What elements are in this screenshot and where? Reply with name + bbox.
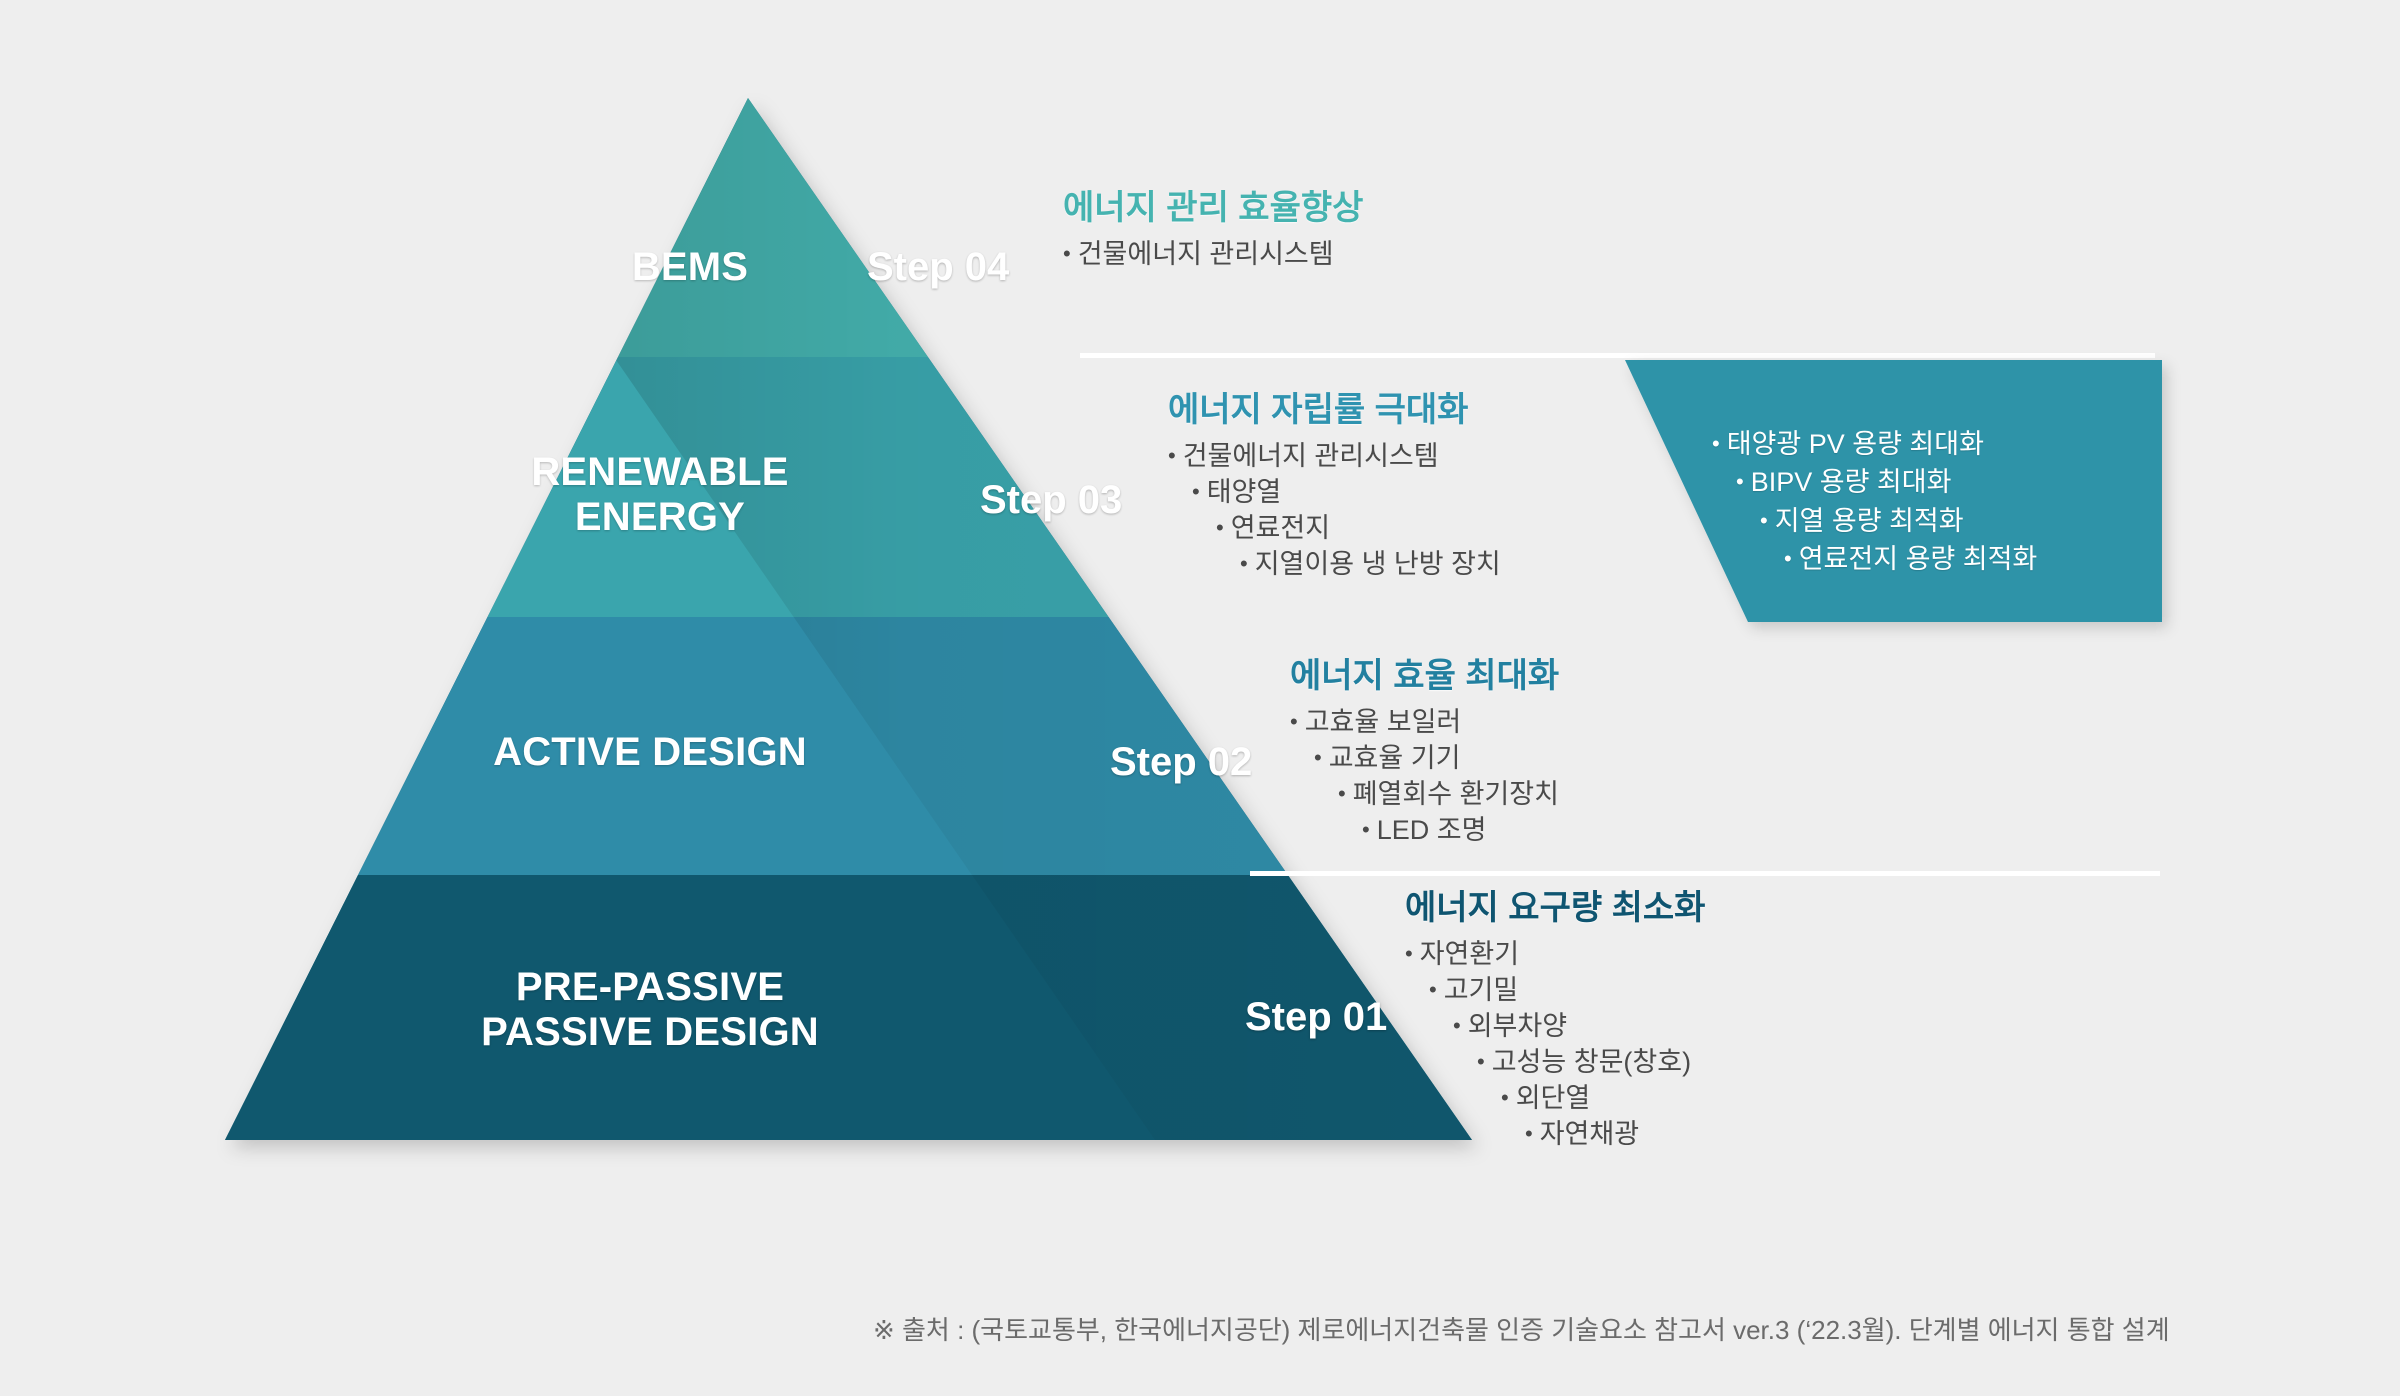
bullet-item: 태양열 [1192,475,1501,511]
step-02-bullets: 고효율 보일러 교효율 기기 폐열회수 환기장치 LED 조명 [1290,705,1559,849]
bullet-item: 자연환기 [1405,937,1705,973]
step-01-block: 에너지 요구량 최소화 자연환기 고기밀 외부차양 고성능 창문(창호) 외단열… [1405,890,1705,1153]
step-03-bullets: 건물에너지 관리시스템 태양열 연료전지 지열이용 냉 난방 장치 [1168,439,1501,583]
step-label-01: Step 01 [1245,995,1387,1040]
bullet-item: 외부차양 [1453,1009,1705,1045]
bullet-item: BIPV 용량 최대화 [1736,463,2037,501]
bullet-item: 연료전지 [1216,511,1501,547]
bullet-item: 폐열회수 환기장치 [1338,777,1559,813]
bullet-item: 고성능 창문(창호) [1477,1045,1705,1081]
divider-step03 [1080,353,2155,358]
step-label-04: Step 04 [867,245,1009,290]
bullet-item: 고기밀 [1429,973,1705,1009]
bullet-item: 자연채광 [1525,1117,1705,1153]
step-label-02: Step 02 [1110,740,1252,785]
bullet-item: 지열 용량 최적화 [1760,502,2037,540]
bullet-item: 태양광 PV 용량 최대화 [1712,425,2037,463]
step-label-03: Step 03 [980,478,1122,523]
tier-label-renewable: RENEWABLE ENERGY [490,450,830,540]
step-04-bullets: 건물에너지 관리시스템 [1063,237,1363,273]
tier-label-passive: PRE-PASSIVE PASSIVE DESIGN [430,965,870,1055]
step-02-title: 에너지 효율 최대화 [1290,658,1559,695]
divider-step01 [1250,871,2160,876]
bullet-item: 연료전지 용량 최적화 [1784,540,2037,578]
bullet-item: 지열이용 냉 난방 장치 [1240,547,1501,583]
bullet-item: 외단열 [1501,1081,1705,1117]
step-04-title: 에너지 관리 효율향상 [1063,190,1363,227]
tier-label-bems: BEMS [560,245,820,290]
bullet-item: 교효율 기기 [1314,741,1559,777]
bullet-item: 건물에너지 관리시스템 [1168,439,1501,475]
infographic-canvas: BEMS RENEWABLE ENERGY ACTIVE DESIGN PRE-… [0,0,2400,1396]
step-03-title: 에너지 자립률 극대화 [1168,392,1501,429]
step-01-title: 에너지 요구량 최소화 [1405,890,1705,927]
callout-bullets: 태양광 PV 용량 최대화 BIPV 용량 최대화 지열 용량 최적화 연료전지… [1712,425,2037,578]
step-01-bullets: 자연환기 고기밀 외부차양 고성능 창문(창호) 외단열 자연채광 [1405,937,1705,1152]
tier-label-active: ACTIVE DESIGN [440,730,860,775]
step-03-block: 에너지 자립률 극대화 건물에너지 관리시스템 태양열 연료전지 지열이용 냉 … [1168,392,1501,583]
source-note: ※ 출처 : (국토교통부, 한국에너지공단) 제로에너지건축물 인증 기술요소… [873,1310,2170,1347]
step-04-block: 에너지 관리 효율향상 건물에너지 관리시스템 [1063,190,1363,273]
bullet-item: 고효율 보일러 [1290,705,1559,741]
step-02-block: 에너지 효율 최대화 고효율 보일러 교효율 기기 폐열회수 환기장치 LED … [1290,658,1559,849]
bullet-item: LED 조명 [1362,813,1559,849]
bullet-item: 건물에너지 관리시스템 [1063,237,1363,273]
callout-text-group: 태양광 PV 용량 최대화 BIPV 용량 최대화 지열 용량 최적화 연료전지… [1712,425,2037,578]
